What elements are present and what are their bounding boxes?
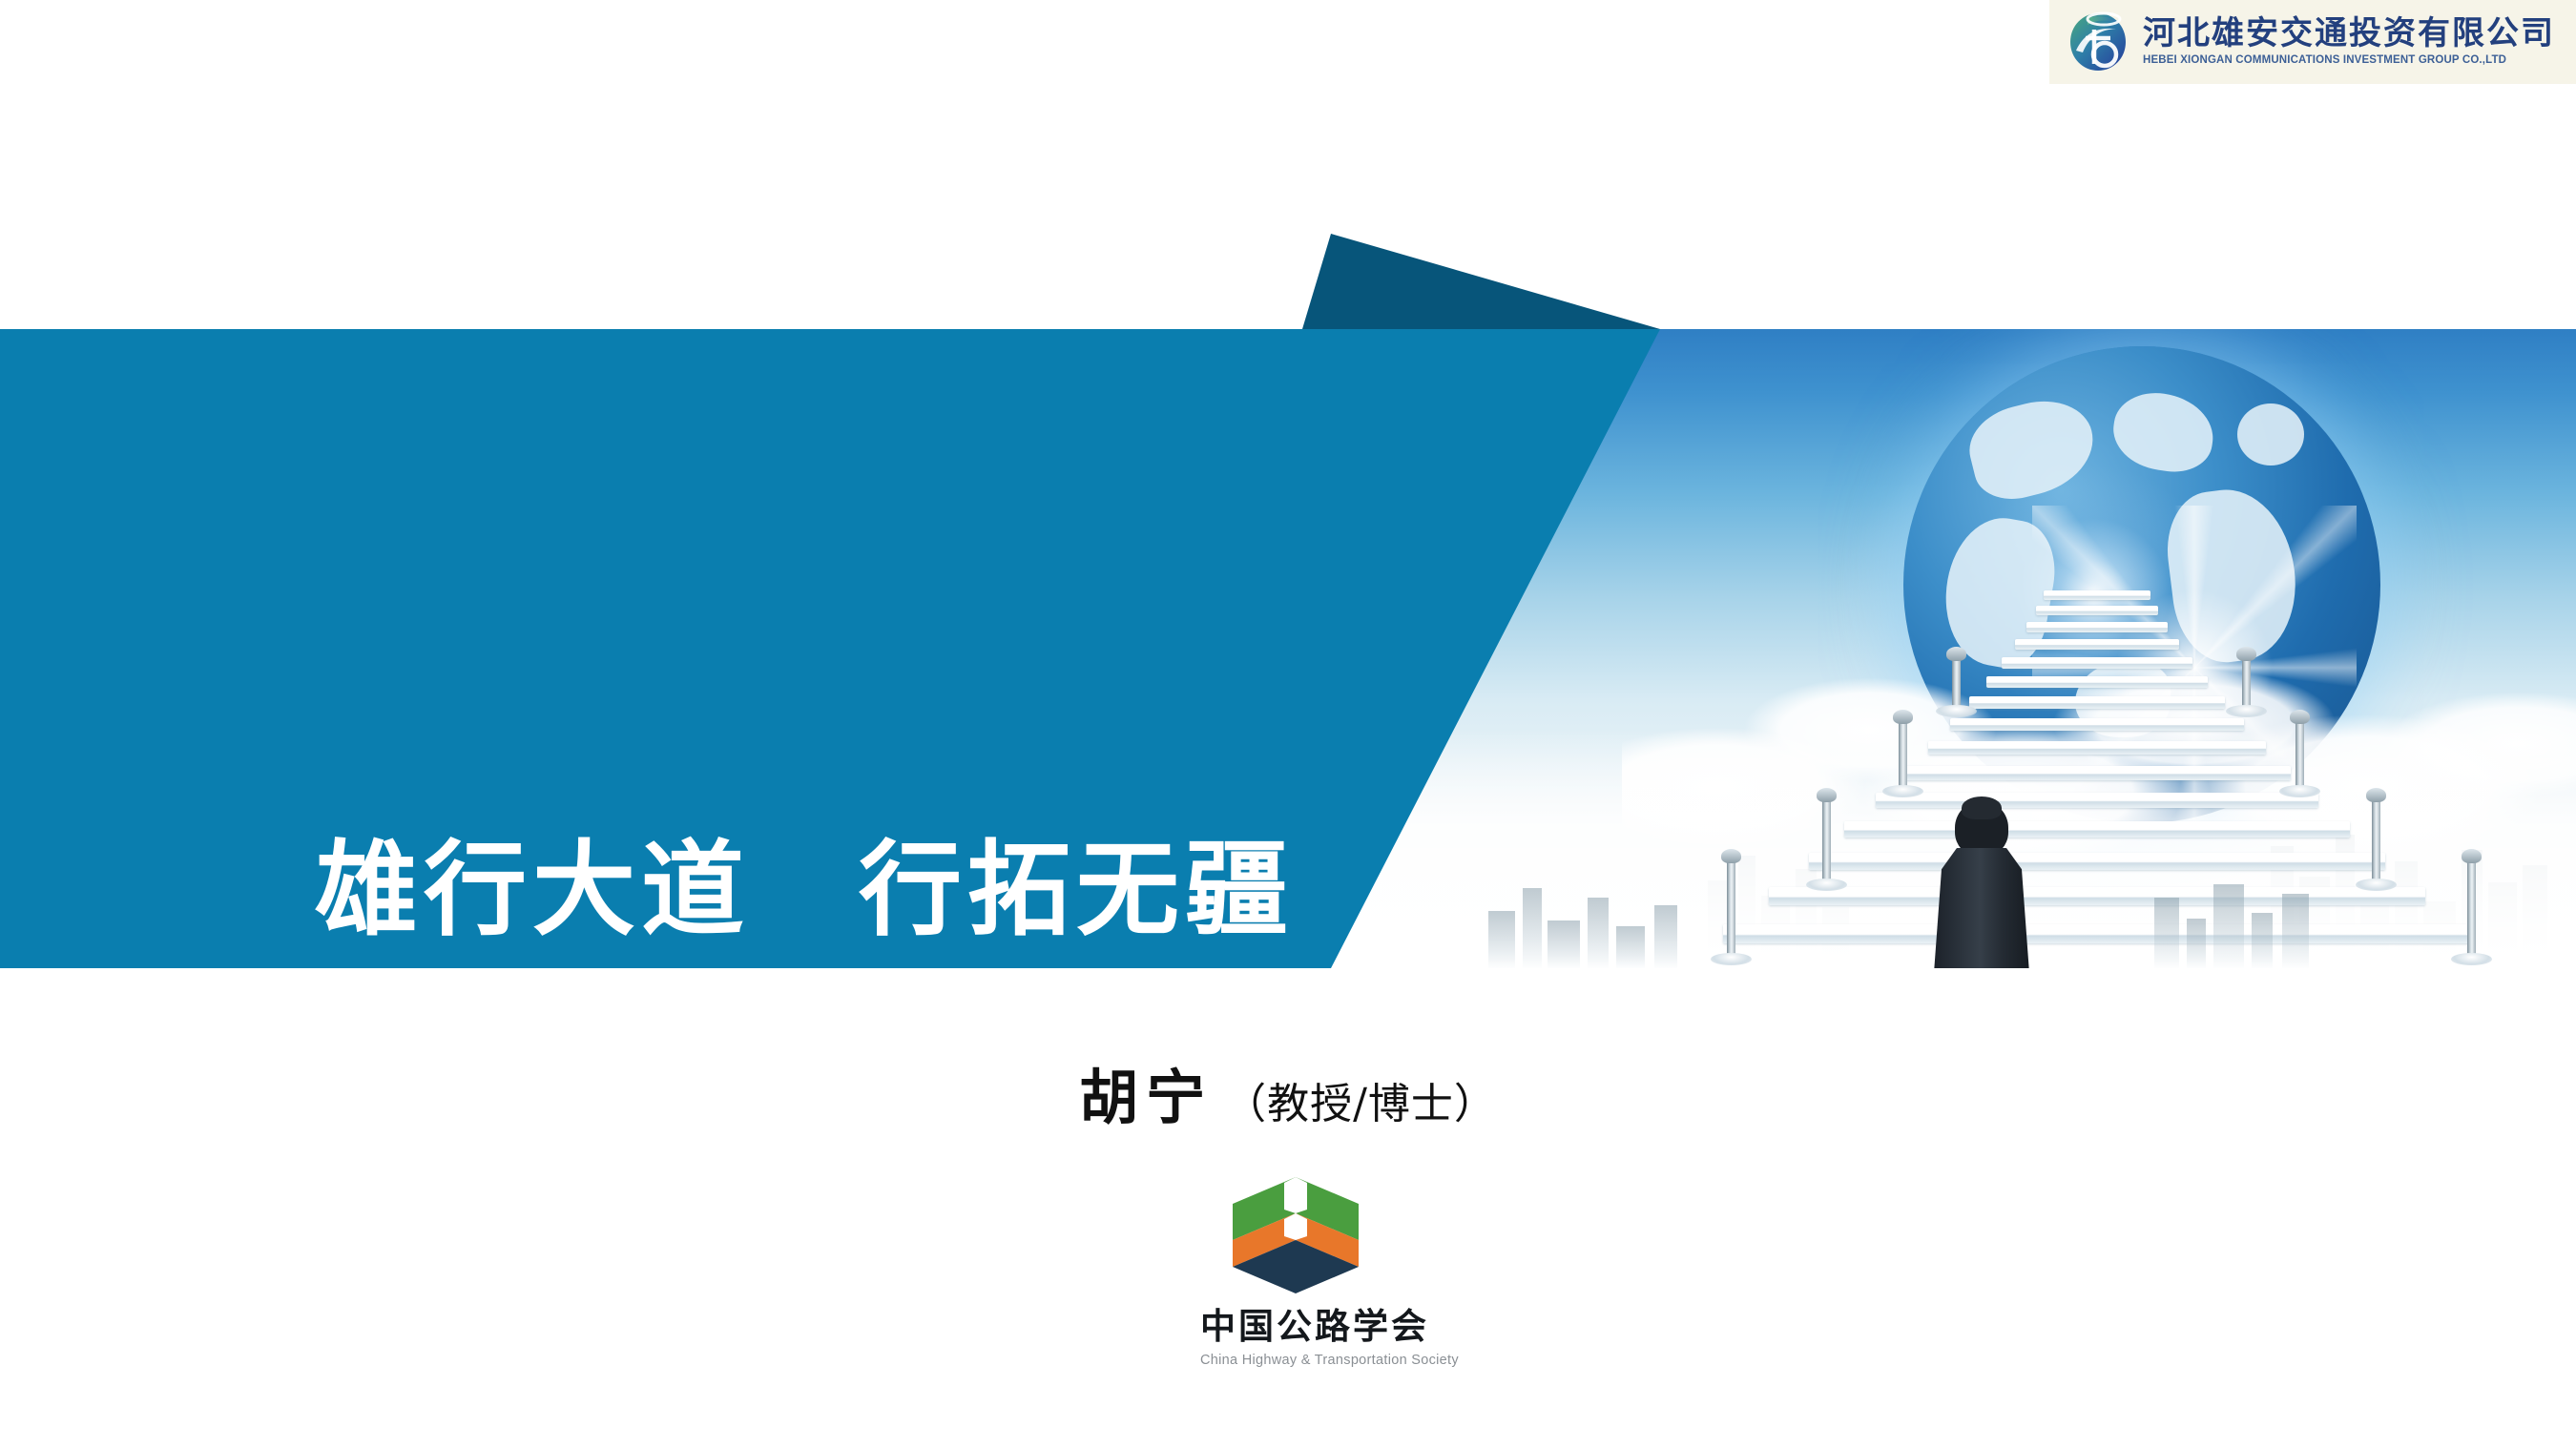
society-name-en: China Highway & Transportation Society xyxy=(1200,1353,1391,1368)
navy-accent-shape xyxy=(1269,224,1670,331)
presentation-slide: 河北雄安交通投资有限公司 HEBEI XIONGAN COMMUNICATION… xyxy=(0,0,2576,1448)
corporate-name-cn: 河北雄安交通投资有限公司 xyxy=(2143,17,2555,50)
corporate-logo-text: 河北雄安交通投资有限公司 HEBEI XIONGAN COMMUNICATION… xyxy=(2143,17,2555,67)
speaker-credentials: （教授/博士） xyxy=(1224,1080,1497,1128)
xiongan-circular-emblem-icon xyxy=(2063,7,2133,77)
corporate-logo: 河北雄安交通投资有限公司 HEBEI XIONGAN COMMUNICATION… xyxy=(2049,0,2576,84)
speaker-name: 胡宁 xyxy=(1079,1063,1213,1132)
speaker-block: 胡宁（教授/博士） xyxy=(0,1049,2576,1135)
corporate-name-en: HEBEI XIONGAN COMMUNICATIONS INVESTMENT … xyxy=(2143,55,2555,67)
hero-banner: 雄行大道 行拓无疆 ——雄安交投企业文化品牌解读与落地实施 xyxy=(0,329,2576,968)
slide-title: 雄行大道 行拓无疆 xyxy=(315,835,1294,948)
society-name-cn: 中国公路学会 xyxy=(1200,1309,1391,1344)
society-logo: 中国公路学会 China Highway & Transportation So… xyxy=(1200,1171,1391,1368)
hexagon-cube-icon xyxy=(1229,1171,1362,1297)
